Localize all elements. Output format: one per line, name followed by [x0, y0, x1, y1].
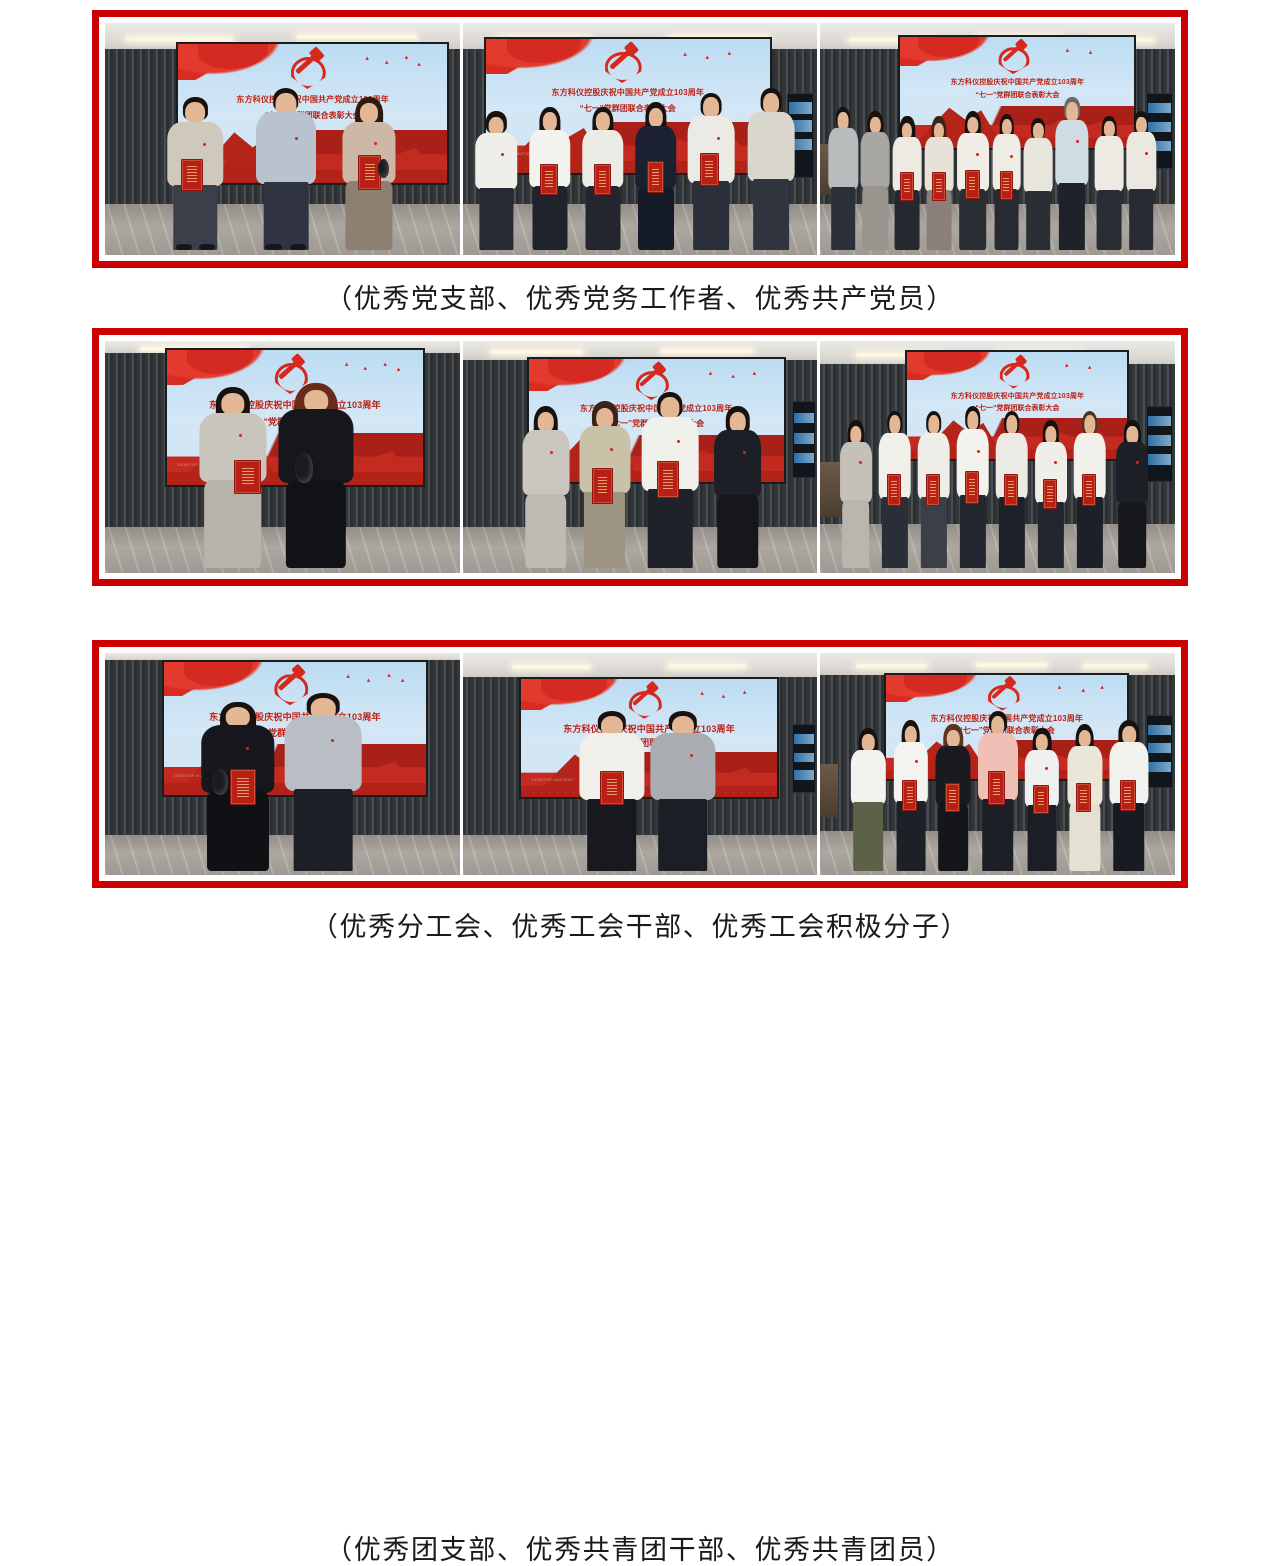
person: [891, 116, 923, 251]
people-group: [463, 341, 818, 573]
people-group: [105, 341, 460, 573]
person: [1065, 724, 1104, 871]
person: [1054, 97, 1089, 250]
person: [580, 107, 626, 251]
photo-frame-3: ▴ ▴ ▴ ▴ 东方科仪控股庆祝中国共产党成立103周年 “七一”党群团联合表彰…: [92, 640, 1188, 888]
person: [576, 401, 633, 568]
scene: ▴ ▴ ▴ ▴ 东方科仪控股庆祝中国共产党成立103周年 “七一”党群团联合表彰…: [105, 653, 460, 875]
person: [640, 392, 700, 568]
scene: ▴ ▴ ▴ ▴ 东方科仪控股庆祝中国共产党成立103周年 “七一”党群团联合表彰…: [105, 23, 460, 255]
photo-r2p1[interactable]: ▴ ▴ ▴ ▴ 东方科仪控股庆祝中国共产党成立103周年 “七一”党群团联合表彰…: [105, 341, 460, 573]
person: [711, 406, 764, 568]
person: [859, 111, 891, 250]
person: [633, 102, 679, 250]
photo-r3p1[interactable]: ▴ ▴ ▴ ▴ 东方科仪控股庆祝中国共产党成立103周年 “七一”党群团联合表彰…: [105, 653, 460, 875]
people-group: [820, 23, 1175, 255]
person: [976, 711, 1019, 871]
person: [923, 116, 955, 251]
collage-page: ▴ ▴ ▴ ▴ 东方科仪控股庆祝中国共产党成立103周年 “七一”党群团联合表彰…: [0, 0, 1280, 960]
person: [991, 114, 1023, 251]
person: [1115, 420, 1150, 568]
people-group: [105, 653, 460, 875]
person: [647, 711, 718, 871]
scene: ▴ ▴ ▴ ▴ 东方科仪控股庆祝中国共产党成立103周年 “七一”党群团联合表彰…: [105, 341, 460, 573]
photo-frame-1: ▴ ▴ ▴ ▴ 东方科仪控股庆祝中国共产党成立103周年 “七一”党群团联合表彰…: [92, 10, 1188, 268]
people-group: [105, 23, 460, 255]
photo-r1p1[interactable]: ▴ ▴ ▴ ▴ 东方科仪控股庆祝中国共产党成立103周年 “七一”党群团联合表彰…: [105, 23, 460, 255]
person: [339, 97, 399, 250]
photo-r2p3[interactable]: ▴ ▴ 东方科仪控股庆祝中国共产党成立103周年 “七一”党群团联合表彰大会: [820, 341, 1175, 573]
people-group: [820, 341, 1175, 573]
person: [955, 111, 990, 250]
person: [1125, 111, 1157, 250]
scene: ▴ ▴ ▴ 东方科仪控股庆祝中国共产党成立103周年 “七一”党群团联合表彰大会: [463, 341, 818, 573]
person: [254, 88, 318, 250]
people-group: [463, 23, 818, 255]
person: [165, 97, 225, 250]
scene: ▴ ▴ 东方科仪控股庆祝中国共产党成立103周年 “七一”党群团联合表彰大会: [820, 341, 1175, 573]
person: [527, 107, 573, 251]
person: [1072, 411, 1107, 569]
person: [746, 88, 796, 250]
scene: ▴ ▴ ▴ 东方科仪控股庆祝中国共产党成立103周年 “七一”党群团联合表彰大会…: [463, 653, 818, 875]
person: [1093, 116, 1125, 251]
person: [275, 383, 357, 569]
photo-r2p2[interactable]: ▴ ▴ ▴ 东方科仪控股庆祝中国共产党成立103周年 “七一”党群团联合表彰大会: [463, 341, 818, 573]
scene: ▴ ▴ ▴ 东方科仪控股庆祝中国共产党成立103周年 “七一”党群团联合表彰大会: [820, 653, 1175, 875]
photo-r1p2[interactable]: ▴ ▴ ▴ 东方科仪控股庆祝中国共产党成立103周年 “七一”党群团联合表彰大会…: [463, 23, 818, 255]
row-caption-3: （优秀团支部、优秀共青团干部、优秀共青团员）: [0, 1536, 1280, 1566]
person: [934, 724, 973, 871]
photo-r3p3[interactable]: ▴ ▴ ▴ 东方科仪控股庆祝中国共产党成立103周年 “七一”党群团联合表彰大会: [820, 653, 1175, 875]
person: [519, 406, 572, 568]
scene: ▴ ▴ 东方科仪控股庆祝中国共产党成立103周年 “七一”党群团联合表彰大会: [820, 23, 1175, 255]
person: [1023, 118, 1055, 250]
person: [955, 406, 990, 568]
person: [1023, 728, 1062, 870]
row-caption-2: （优秀分工会、优秀工会干部、优秀工会积极分子）: [0, 913, 1280, 943]
person: [686, 93, 736, 251]
person: [473, 111, 519, 250]
people-group: [463, 653, 818, 875]
scene: ▴ ▴ ▴ 东方科仪控股庆祝中国共产党成立103周年 “七一”党群团联合表彰大会…: [463, 23, 818, 255]
person: [576, 711, 647, 871]
person: [197, 702, 279, 871]
person: [827, 107, 859, 251]
photo-r3p2[interactable]: ▴ ▴ ▴ 东方科仪控股庆祝中国共产党成立103周年 “七一”党群团联合表彰大会…: [463, 653, 818, 875]
person: [877, 411, 912, 569]
person: [994, 411, 1029, 569]
person: [891, 720, 930, 871]
person: [916, 411, 951, 569]
photo-r1p3[interactable]: ▴ ▴ 东方科仪控股庆祝中国共产党成立103周年 “七一”党群团联合表彰大会: [820, 23, 1175, 255]
person: [838, 420, 873, 568]
person: [194, 387, 272, 568]
person: [282, 693, 364, 871]
person: [849, 728, 888, 870]
person: [1033, 420, 1068, 568]
person: [1108, 720, 1151, 871]
photo-frame-2: ▴ ▴ ▴ ▴ 东方科仪控股庆祝中国共产党成立103周年 “七一”党群团联合表彰…: [92, 328, 1188, 586]
row-caption-1: （优秀党支部、优秀党务工作者、优秀共产党员）: [0, 285, 1280, 315]
people-group: [820, 653, 1175, 875]
